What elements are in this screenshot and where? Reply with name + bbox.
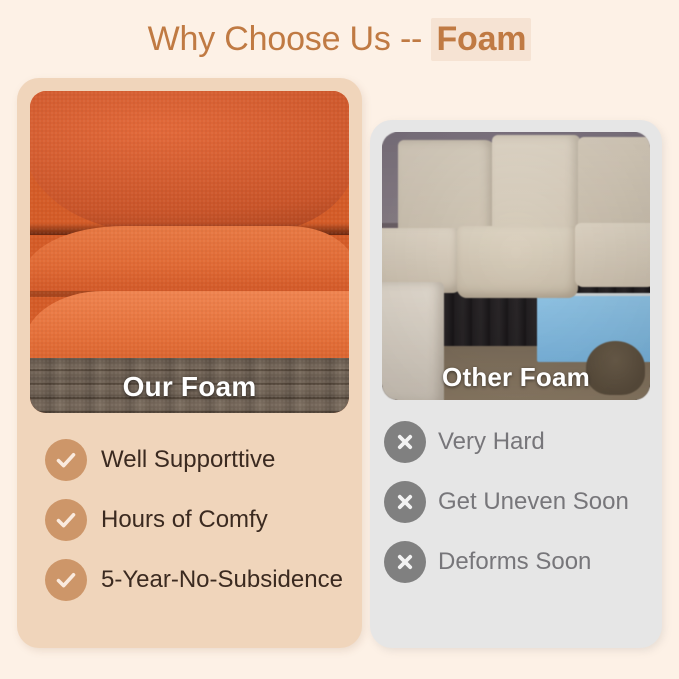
list-item: Well Supporttive	[45, 430, 362, 490]
comparison-section: Our Foam Well Supporttive Hours of Comfy	[0, 78, 679, 679]
other-foam-panel: Other Foam Very Hard Get Uneven Soon	[370, 120, 662, 648]
list-item-label: Deforms Soon	[438, 550, 591, 574]
page-title-prefix: Why Choose Us --	[148, 20, 432, 58]
other-foam-caption: Other Foam	[382, 354, 650, 400]
cross-icon	[384, 541, 426, 583]
list-item: 5-Year-No-Subsidence	[45, 550, 362, 610]
list-item-label: Hours of Comfy	[101, 508, 268, 532]
list-item-label: Get Uneven Soon	[438, 490, 629, 514]
other-foam-feature-list: Very Hard Get Uneven Soon Deforms Soon	[370, 412, 662, 592]
our-foam-caption: Our Foam	[30, 361, 349, 413]
list-item-label: 5-Year-No-Subsidence	[101, 568, 343, 592]
list-item: Very Hard	[384, 412, 662, 472]
page-title-accent: Foam	[431, 18, 531, 61]
cross-icon	[384, 421, 426, 463]
list-item: Hours of Comfy	[45, 490, 362, 550]
list-item-label: Very Hard	[438, 430, 545, 454]
cross-icon	[384, 481, 426, 523]
list-item: Deforms Soon	[384, 532, 662, 592]
other-foam-photo: Other Foam	[382, 132, 650, 400]
our-foam-photo: Our Foam	[30, 91, 349, 413]
our-foam-panel: Our Foam Well Supporttive Hours of Comfy	[17, 78, 362, 648]
list-item-label: Well Supporttive	[101, 448, 275, 472]
check-icon	[45, 439, 87, 481]
check-icon	[45, 559, 87, 601]
list-item: Get Uneven Soon	[384, 472, 662, 532]
check-icon	[45, 499, 87, 541]
page-title: Why Choose Us -- Foam	[148, 22, 532, 56]
our-foam-feature-list: Well Supporttive Hours of Comfy 5-Year-N…	[17, 430, 362, 610]
page-header: Why Choose Us -- Foam	[0, 0, 679, 78]
